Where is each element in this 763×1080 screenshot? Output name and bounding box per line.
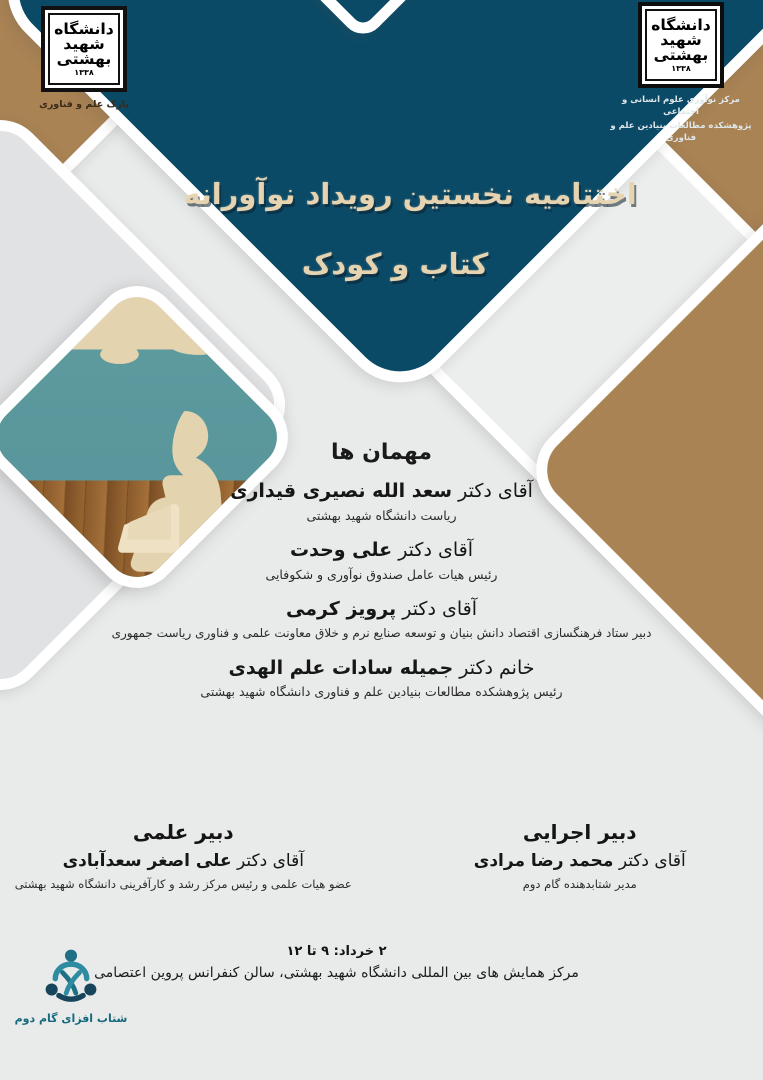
executive-secretary-role: مدیر شتابدهنده گام دوم	[397, 876, 763, 892]
guest-name: آقای دکتر علی وحدت	[0, 538, 763, 564]
university-logo-left-caption: پارک علم و فناوری	[14, 98, 154, 112]
university-seal-script: دانشگاه شهید بهشتی	[48, 22, 119, 67]
guest-fullname: علی وحدت	[290, 539, 392, 561]
accelerator-triskelion-icon	[40, 946, 102, 1004]
university-seal-icon: دانشگاه شهید بهشتی ۱۳۳۸	[41, 6, 127, 92]
university-logo-right-caption-line2: پژوهشکده مطالعات بنیادین علم و فناوری	[606, 120, 756, 145]
poster-title-line-1: اختتامیه نخستین رویداد نوآورانه	[150, 176, 670, 212]
guest-item: آقای دکتر سعد الله نصیری قیداری ریاست دا…	[0, 479, 763, 524]
guest-prefix: آقای دکتر	[452, 480, 533, 502]
guest-item: خانم دکتر جمیله سادات علم الهدی رئیس پژو…	[0, 656, 763, 701]
scientific-secretary-name: آقای دکتر علی اصغر سعدآبادی	[0, 850, 367, 873]
guest-item: آقای دکتر پرویز کرمی دبیر ستاد فرهنگسازی…	[0, 597, 763, 641]
guest-role: رئیس پژوهشکده مطالعات بنیادین علم و فناو…	[0, 683, 763, 701]
guest-name: آقای دکتر سعد الله نصیری قیداری	[0, 479, 763, 505]
guest-prefix: آقای دکتر	[396, 598, 477, 620]
accelerator-logo: شتاب افزای گام دوم	[12, 946, 130, 1025]
guest-role: رئیس هیات عامل صندوق نوآوری و شکوفایی	[0, 566, 763, 584]
university-seal-year: ۱۳۳۸	[671, 65, 691, 73]
guest-item: آقای دکتر علی وحدت رئیس هیات عامل صندوق …	[0, 538, 763, 583]
university-seal-inner: دانشگاه شهید بهشتی ۱۳۳۸	[48, 13, 120, 85]
executive-secretary-name: آقای دکتر محمد رضا مرادی	[397, 850, 763, 873]
accelerator-caption: شتاب افزای گام دوم	[12, 1012, 130, 1025]
guest-prefix: خانم دکتر	[453, 657, 534, 679]
scientific-secretary-heading: دبیر علمی	[0, 820, 367, 844]
scientific-secretary-prefix: آقای دکتر	[232, 851, 304, 871]
university-seal-script: دانشگاه شهید بهشتی	[645, 18, 716, 63]
executive-secretary: دبیر اجرایی آقای دکتر محمد رضا مرادی مدی…	[377, 820, 763, 892]
guest-fullname: جمیله سادات علم الهدی	[229, 657, 454, 679]
guest-role: دبیر ستاد فرهنگسازی اقتصاد دانش بنیان و …	[0, 625, 763, 642]
university-seal-year: ۱۳۳۸	[74, 69, 94, 77]
scientific-secretary-role: عضو هیات علمی و رئیس مرکز رشد و کارآفرین…	[0, 876, 367, 892]
university-seal-inner: دانشگاه شهید بهشتی ۱۳۳۸	[645, 9, 717, 81]
executive-secretary-prefix: آقای دکتر	[613, 851, 685, 871]
guests-section: مهمان ها آقای دکتر سعد الله نصیری قیداری…	[0, 440, 763, 701]
scientific-secretary-fullname: علی اصغر سعدآبادی	[63, 851, 232, 871]
executive-secretary-heading: دبیر اجرایی	[397, 820, 763, 844]
university-logo-right-caption-line1: مرکز نوآوری علوم انسانی و اجتماعی	[606, 94, 756, 119]
executive-secretary-fullname: محمد رضا مرادی	[474, 851, 614, 871]
secretaries-section: دبیر اجرایی آقای دکتر محمد رضا مرادی مدی…	[0, 820, 763, 892]
university-seal-icon: دانشگاه شهید بهشتی ۱۳۳۸	[638, 2, 724, 88]
guest-name: آقای دکتر پرویز کرمی	[0, 597, 763, 623]
guest-fullname: سعد الله نصیری قیداری	[230, 480, 452, 502]
guests-heading: مهمان ها	[0, 440, 763, 465]
guest-name: خانم دکتر جمیله سادات علم الهدی	[0, 656, 763, 682]
guest-role: ریاست دانشگاه شهید بهشتی	[0, 507, 763, 525]
poster-title-line-2: کتاب و کودک	[150, 246, 640, 282]
university-logo-left: دانشگاه شهید بهشتی ۱۳۳۸ پارک علم و فناور…	[14, 6, 154, 112]
event-poster: دانشگاه شهید بهشتی ۱۳۳۸ پارک علم و فناور…	[0, 0, 763, 1080]
scientific-secretary: دبیر علمی آقای دکتر علی اصغر سعدآبادی عض…	[0, 820, 377, 892]
poster-title: اختتامیه نخستین رویداد نوآورانه کتاب و ک…	[150, 176, 670, 283]
university-logo-right: دانشگاه شهید بهشتی ۱۳۳۸ مرکز نوآوری علوم…	[606, 2, 756, 144]
guest-fullname: پرویز کرمی	[286, 598, 396, 620]
guest-prefix: آقای دکتر	[392, 539, 473, 561]
